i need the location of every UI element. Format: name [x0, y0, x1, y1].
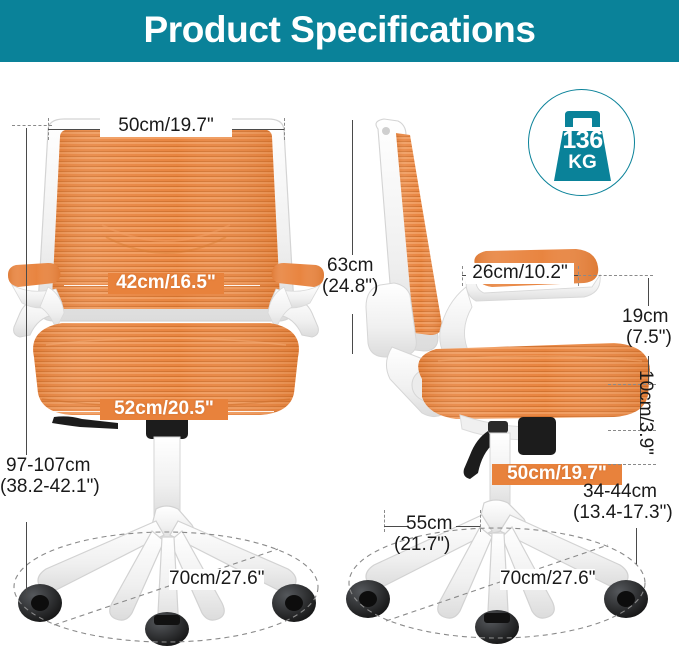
dim-backrest-height: 63cm — [327, 256, 373, 277]
dim-backrest-width: 50cm/19.7" — [100, 116, 232, 137]
guide-seat-front-right — [480, 510, 481, 532]
guide-height-top — [12, 125, 52, 126]
spec-drawing-stage: 50cm/19.7" 42cm/16.5" 52cm/20.5" 97-107c… — [0, 62, 679, 656]
dim-seat-height-inch: (13.4-17.3") — [573, 503, 673, 524]
gas-cylinder — [146, 413, 188, 517]
guide-armrest-height-upper — [648, 278, 649, 306]
page-header: Product Specifications — [0, 0, 679, 60]
side-view-chair — [352, 117, 662, 637]
guide-seat-front-line-b — [456, 526, 480, 527]
dim-seat-width: 52cm/20.5" — [100, 399, 228, 420]
guide-height-line — [26, 128, 27, 455]
dim-backrest-inner-width: 42cm/16.5" — [108, 273, 224, 294]
side-seat-cushion — [418, 343, 650, 419]
dim-armrest-height-inch: (7.5") — [626, 328, 672, 349]
guide-seat-front-left — [384, 510, 385, 532]
dim-front-base-diameter: 70cm/27.6" — [169, 569, 264, 590]
dim-seat-front-depth-inch: (21.7") — [394, 535, 450, 556]
dim-backrest-height-inch: (24.8") — [322, 277, 378, 298]
chair-base — [38, 506, 296, 625]
dim-seat-height: 34-44cm — [583, 482, 657, 503]
guide-armrest-right — [578, 266, 579, 286]
page-title: Product Specifications — [143, 9, 535, 51]
guide-seat-height-line — [636, 528, 637, 564]
dim-side-base-diameter: 70cm/27.6" — [500, 569, 595, 590]
dim-armrest-length: 26cm/10.2" — [466, 263, 574, 284]
dim-overall-height-inch: (38.2-42.1") — [0, 477, 100, 498]
guide-backrest-height-lower — [352, 314, 353, 354]
dim-armrest-to-seat: 10cm/3.9" — [634, 370, 655, 455]
guide-backrest-height-upper — [352, 120, 353, 255]
guide-armrest-height-top — [578, 275, 653, 276]
guide-backrest-width-right — [284, 118, 285, 140]
dim-armrest-height: 19cm — [622, 307, 668, 328]
dim-overall-height: 97-107cm — [6, 456, 91, 477]
dim-seat-front-depth: 55cm — [406, 514, 452, 535]
guide-armrest-left — [462, 266, 463, 286]
guide-seat-front-line-a — [384, 526, 408, 527]
guide-height-line-lower — [26, 522, 27, 598]
front-view-chair — [6, 117, 326, 637]
guide-seat-height-top — [608, 464, 656, 465]
